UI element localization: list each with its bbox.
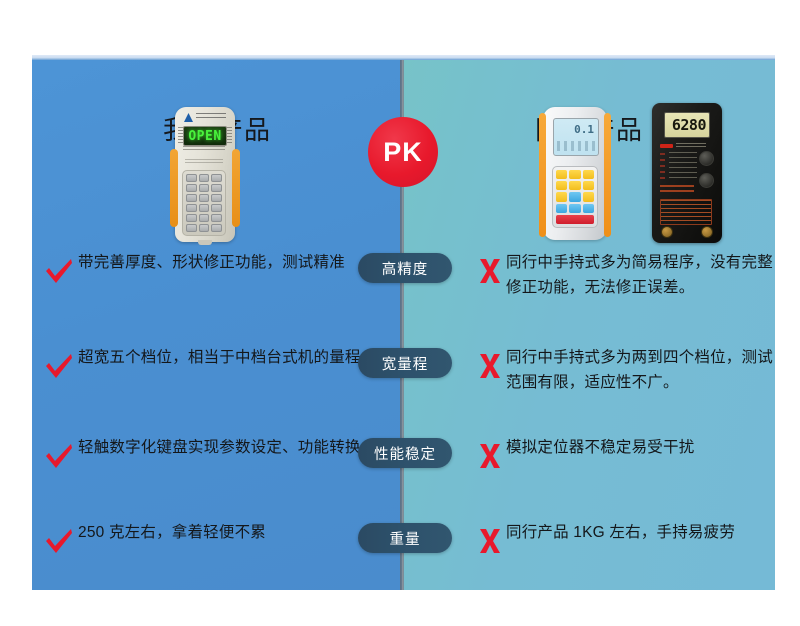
- check-mark-icon: [44, 526, 74, 556]
- keypad-key: [211, 174, 222, 182]
- competitor-device-lcd-segments: [557, 141, 595, 151]
- cross-mark-icon: [475, 351, 505, 381]
- left-feature-text: 带完善厚度、形状修正功能，测试精准: [78, 250, 374, 275]
- keypad-key: [569, 181, 580, 190]
- benchtop-device-lcd-value: 6280: [672, 116, 706, 134]
- keypad-key: [186, 224, 197, 232]
- check-mark-icon: [44, 441, 74, 471]
- category-badge: 性能稳定: [358, 438, 452, 468]
- right-feature-text: 同行产品 1KG 左右，手持易疲劳: [506, 520, 778, 545]
- keypad-key: [583, 181, 594, 190]
- competitor-device-lcd-value: 0.1: [574, 123, 594, 136]
- left-product-device-image: OPEN: [169, 107, 241, 242]
- left-feature-text: 超宽五个档位，相当于中档台式机的量程: [78, 345, 374, 370]
- keypad-key: [556, 192, 567, 201]
- keypad-key: [186, 204, 197, 212]
- left-device-midlabel: [185, 159, 223, 164]
- keypad-key: [186, 214, 197, 222]
- keypad-key: [556, 204, 567, 213]
- comparison-board: 我家产品 同行产品 PK OPEN: [32, 55, 775, 590]
- keypad-key: [199, 184, 210, 192]
- keypad-key: [199, 214, 210, 222]
- benchtop-device-lcd-screen: 6280: [664, 112, 710, 138]
- keypad-key: [211, 204, 222, 212]
- competitor-device-lcd-screen: 0.1: [553, 118, 599, 156]
- left-device-grip-right: [232, 149, 240, 227]
- right-feature-text: 同行中手持式多为两到四个档位，测试范围有限，适应性不广。: [506, 345, 778, 395]
- benchtop-device-power-indicator: [660, 144, 673, 148]
- right-feature-text: 模拟定位器不稳定易受干扰: [506, 435, 778, 460]
- benchtop-device-labels: [676, 143, 706, 149]
- left-device-keypad: [182, 170, 226, 236]
- check-mark-icon: [44, 256, 74, 286]
- left-feature-text: 轻触数字化键盘实现参数设定、功能转换: [78, 435, 374, 460]
- cross-mark-icon: [475, 441, 505, 471]
- benchtop-device-knob-upper: [699, 151, 714, 166]
- right-feature-text: 同行中手持式多为简易程序，没有完整修正功能，无法修正误差。: [506, 250, 778, 300]
- competitor-device-keypad: [552, 166, 598, 228]
- keypad-key: [211, 214, 222, 222]
- category-badge-label: 高精度: [382, 258, 429, 279]
- keypad-key: [583, 192, 594, 201]
- benchtop-device-port-right: [701, 226, 713, 238]
- benchtop-device-mode-list: [669, 152, 697, 180]
- left-device-lcd-value: OPEN: [188, 129, 221, 144]
- left-device-base: [198, 240, 212, 245]
- competitor-device-grip-right: [604, 113, 611, 237]
- check-mark-icon: [44, 351, 74, 381]
- keypad-key: [569, 170, 580, 179]
- category-badge: 重量: [358, 523, 452, 553]
- keypad-key: [199, 174, 210, 182]
- cross-mark-icon: [475, 256, 505, 286]
- competitor-device-grip-left: [539, 113, 546, 237]
- keypad-key: [211, 224, 222, 232]
- category-badge: 高精度: [358, 253, 452, 283]
- keypad-key: [556, 170, 567, 179]
- pk-badge: PK: [368, 117, 438, 187]
- keypad-key: [186, 174, 197, 182]
- keypad-key: [186, 184, 197, 192]
- category-badge-label: 性能稳定: [374, 443, 436, 464]
- benchtop-device-port-left: [661, 226, 673, 238]
- left-feature-text: 250 克左右，拿着轻便不累: [78, 520, 374, 545]
- competitor-handheld-device-image: 0.1: [539, 107, 611, 242]
- benchtop-device-model-text: [660, 185, 694, 194]
- category-badge-label: 宽量程: [382, 353, 429, 374]
- keypad-key: [569, 204, 580, 213]
- left-device-lcd-caption: [183, 146, 225, 152]
- left-device-brand-text: [196, 113, 226, 121]
- left-device-grip-left: [170, 149, 178, 227]
- keypad-key: [569, 192, 580, 201]
- benchtop-device-knob-lower: [699, 173, 714, 188]
- category-badge-label: 重量: [390, 528, 421, 549]
- pk-badge-label: PK: [383, 139, 423, 166]
- keypad-key: [583, 204, 594, 213]
- keypad-key: [199, 224, 210, 232]
- keypad-key: [583, 170, 594, 179]
- keypad-key: [211, 184, 222, 192]
- category-badge: 宽量程: [358, 348, 452, 378]
- benchtop-device-led-column: [660, 153, 665, 179]
- keypad-key: [199, 194, 210, 202]
- keypad-enter-key: [556, 215, 594, 224]
- keypad-key: [186, 194, 197, 202]
- keypad-key: [556, 181, 567, 190]
- left-device-lcd-screen: OPEN: [183, 126, 227, 146]
- keypad-key: [211, 194, 222, 202]
- cross-mark-icon: [475, 526, 505, 556]
- competitor-benchtop-device-image: 6280: [652, 103, 722, 243]
- benchtop-device-spec-table: [660, 199, 712, 225]
- keypad-key: [199, 204, 210, 212]
